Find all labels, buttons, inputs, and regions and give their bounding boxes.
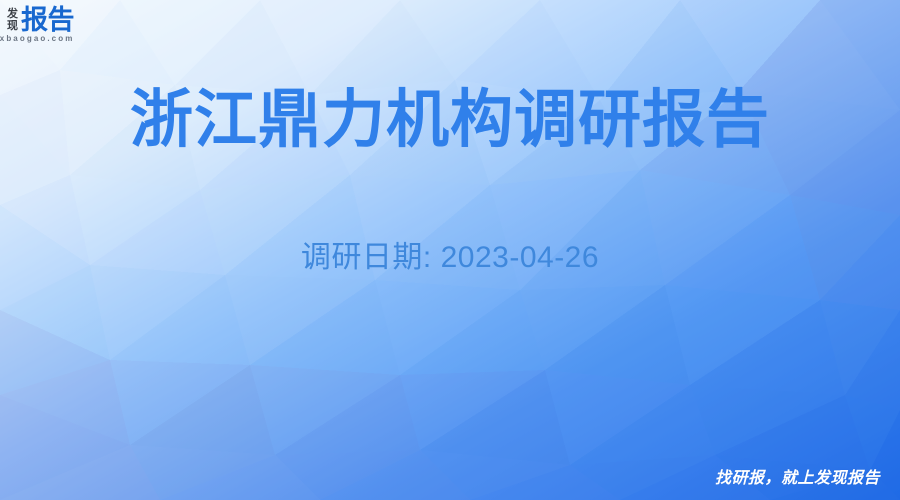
report-cover-slide: 发 现 报告 fxbaogao.com 浙江鼎力机构调研报告 调研日期: 202… (0, 0, 900, 500)
logo-main: 报告 fxbaogao.com (21, 7, 74, 43)
logo-mark-icon: 发 现 (7, 7, 18, 33)
brand-logo[interactable]: 发 现 报告 fxbaogao.com (7, 7, 74, 43)
footer-tagline: 找研报，就上发现报告 (715, 464, 880, 488)
logo-url: fxbaogao.com (0, 34, 74, 43)
logo-mark-char-bottom: 现 (7, 21, 18, 33)
logo-wordmark: 报告 (21, 7, 74, 33)
page-subtitle: 调研日期: 2023-04-26 (0, 232, 900, 276)
page-title: 浙江鼎力机构调研报告 (0, 86, 900, 155)
